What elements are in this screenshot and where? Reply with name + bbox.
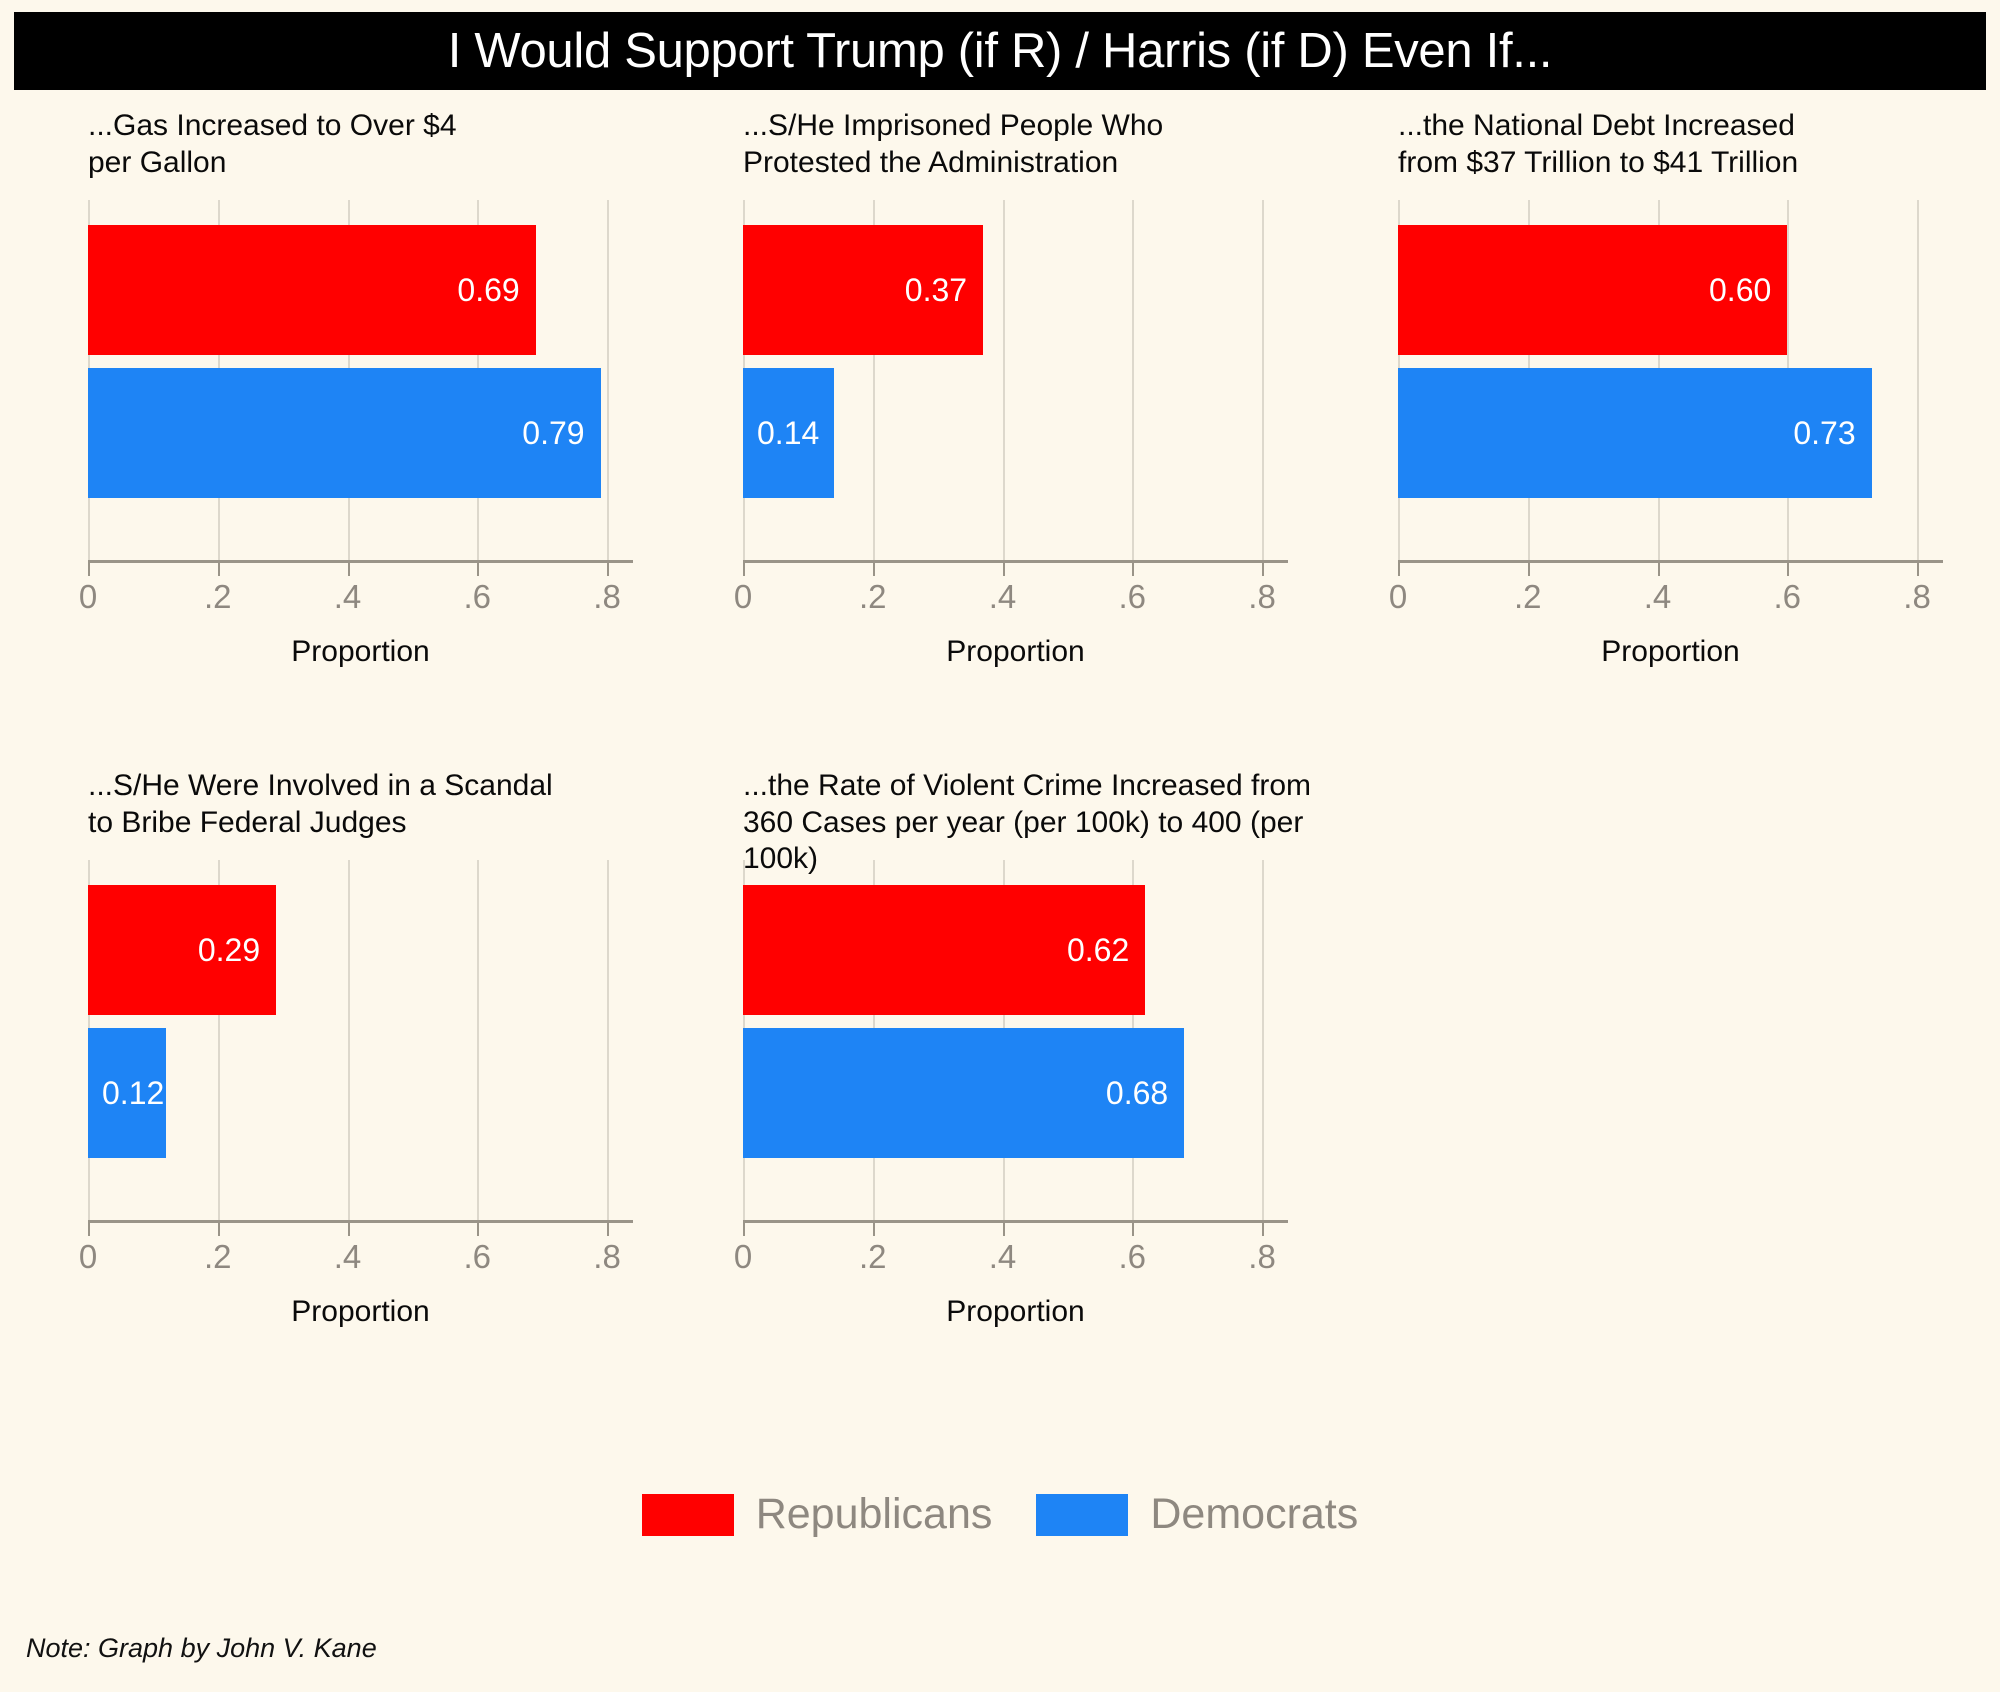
bar-republicans: 0.37 — [743, 225, 983, 355]
x-axis-line — [88, 560, 633, 563]
axis-tick — [88, 1220, 90, 1236]
axis-tick-label: 0 — [1389, 578, 1407, 616]
panel-row-top: ...Gas Increased to Over $4 per Gallon0.… — [0, 100, 2000, 760]
chart-legend: RepublicansDemocrats — [0, 1490, 2000, 1539]
axis-tick — [1003, 560, 1005, 576]
axis-tick-label: .4 — [989, 1238, 1017, 1276]
axis-tick-label: .4 — [1644, 578, 1672, 616]
x-axis-line — [743, 1220, 1288, 1223]
axis-tick-label: .8 — [1248, 578, 1276, 616]
legend-swatch-icon — [1036, 1494, 1128, 1536]
panel-title: ...S/He Imprisoned People Who Protested … — [743, 108, 1313, 181]
axis-tick-label: .2 — [204, 578, 232, 616]
axis-tick — [607, 1220, 609, 1236]
plot-area: 0.370.14 — [743, 200, 1288, 560]
bar-value-label: 0.62 — [1067, 932, 1129, 969]
axis-tick — [743, 1220, 745, 1236]
bar-democrats: 0.73 — [1398, 368, 1872, 498]
axis-tick-label: .4 — [334, 578, 362, 616]
bar-democrats: 0.12 — [88, 1028, 166, 1158]
chart-panel: ...the Rate of Violent Crime Increased f… — [665, 760, 1320, 1420]
bar-value-label: 0.12 — [102, 1075, 164, 1112]
gridline — [1132, 200, 1134, 560]
axis-tick — [1132, 1220, 1134, 1236]
bar-value-label: 0.29 — [198, 932, 260, 969]
bar-republicans: 0.69 — [88, 225, 536, 355]
chart-panel: ...S/He Were Involved in a Scandal to Br… — [10, 760, 665, 1420]
axis-tick-label: 0 — [734, 1238, 752, 1276]
axis-tick-label: .8 — [593, 578, 621, 616]
x-axis-line — [88, 1220, 633, 1223]
panel-grid: ...Gas Increased to Over $4 per Gallon0.… — [0, 100, 2000, 1420]
x-axis-line — [743, 560, 1288, 563]
legend-swatch-icon — [642, 1494, 734, 1536]
legend-label: Democrats — [1150, 1490, 1358, 1539]
x-axis-title: Proportion — [743, 1295, 1288, 1329]
figure-note: Note: Graph by John V. Kane — [26, 1633, 377, 1664]
axis-tick-label: 0 — [79, 1238, 97, 1276]
axis-tick — [477, 1220, 479, 1236]
chart-panel: ...the National Debt Increased from $37 … — [1320, 100, 1975, 760]
axis-tick-label: .2 — [859, 1238, 887, 1276]
axis-tick-label: .6 — [464, 1238, 492, 1276]
bar-democrats: 0.68 — [743, 1028, 1184, 1158]
chart-title: I Would Support Trump (if R) / Harris (i… — [448, 23, 1552, 79]
bar-value-label: 0.60 — [1709, 272, 1771, 309]
axis-tick — [873, 1220, 875, 1236]
gridline — [1003, 200, 1005, 560]
legend-item: Democrats — [1036, 1490, 1358, 1539]
axis-tick — [607, 560, 609, 576]
axis-tick-label: .4 — [334, 1238, 362, 1276]
axis-tick — [348, 560, 350, 576]
plot-area: 0.600.73 — [1398, 200, 1943, 560]
bar-value-label: 0.37 — [905, 272, 967, 309]
x-axis-title: Proportion — [743, 635, 1288, 669]
axis-tick-label: 0 — [79, 578, 97, 616]
panel-title: ...Gas Increased to Over $4 per Gallon — [88, 108, 658, 181]
axis-tick — [873, 560, 875, 576]
axis-tick — [1398, 560, 1400, 576]
axis-tick — [1132, 560, 1134, 576]
panel-title: ...the National Debt Increased from $37 … — [1398, 108, 1968, 181]
gridline — [607, 200, 609, 560]
axis-tick-label: .8 — [1248, 1238, 1276, 1276]
legend-item: Republicans — [642, 1490, 993, 1539]
axis-tick-label: .2 — [204, 1238, 232, 1276]
axis-tick — [1917, 560, 1919, 576]
plot-area: 0.690.79 — [88, 200, 633, 560]
bar-republicans: 0.29 — [88, 885, 276, 1015]
gridline — [348, 860, 350, 1220]
axis-tick-label: .6 — [1119, 578, 1147, 616]
axis-tick — [1262, 1220, 1264, 1236]
axis-tick-label: .6 — [1774, 578, 1802, 616]
axis-tick-label: .8 — [593, 1238, 621, 1276]
bar-democrats: 0.79 — [88, 368, 601, 498]
axis-tick — [88, 560, 90, 576]
axis-tick-label: .2 — [859, 578, 887, 616]
legend-label: Republicans — [756, 1490, 993, 1539]
bar-value-label: 0.79 — [522, 415, 584, 452]
bar-republicans: 0.60 — [1398, 225, 1787, 355]
gridline — [1262, 860, 1264, 1220]
x-axis-line — [1398, 560, 1943, 563]
panel-row-bottom: ...S/He Were Involved in a Scandal to Br… — [0, 760, 2000, 1420]
bar-value-label: 0.14 — [757, 415, 819, 452]
axis-tick — [743, 560, 745, 576]
gridline — [1917, 200, 1919, 560]
axis-tick-label: 0 — [734, 578, 752, 616]
bar-value-label: 0.68 — [1106, 1075, 1168, 1112]
chart-root: I Would Support Trump (if R) / Harris (i… — [0, 0, 2000, 1692]
x-axis-title: Proportion — [88, 1295, 633, 1329]
axis-tick — [477, 560, 479, 576]
axis-tick — [1787, 560, 1789, 576]
axis-tick — [1262, 560, 1264, 576]
axis-tick-label: .6 — [464, 578, 492, 616]
axis-tick — [1658, 560, 1660, 576]
axis-tick-label: .6 — [1119, 1238, 1147, 1276]
x-axis-title: Proportion — [88, 635, 633, 669]
bar-value-label: 0.69 — [457, 272, 519, 309]
bar-democrats: 0.14 — [743, 368, 834, 498]
plot-area: 0.620.68 — [743, 860, 1288, 1220]
axis-tick-label: .2 — [1514, 578, 1542, 616]
axis-tick-label: .4 — [989, 578, 1017, 616]
axis-tick — [1528, 560, 1530, 576]
bar-value-label: 0.73 — [1793, 415, 1855, 452]
chart-title-banner: I Would Support Trump (if R) / Harris (i… — [14, 12, 1986, 90]
axis-tick — [218, 1220, 220, 1236]
axis-tick-label: .8 — [1903, 578, 1931, 616]
bar-republicans: 0.62 — [743, 885, 1145, 1015]
plot-area: 0.290.12 — [88, 860, 633, 1220]
gridline — [607, 860, 609, 1220]
chart-panel: ...S/He Imprisoned People Who Protested … — [665, 100, 1320, 760]
axis-tick — [348, 1220, 350, 1236]
x-axis-title: Proportion — [1398, 635, 1943, 669]
chart-panel: ...Gas Increased to Over $4 per Gallon0.… — [10, 100, 665, 760]
panel-title: ...S/He Were Involved in a Scandal to Br… — [88, 768, 658, 841]
axis-tick — [1003, 1220, 1005, 1236]
gridline — [1262, 200, 1264, 560]
gridline — [477, 860, 479, 1220]
axis-tick — [218, 560, 220, 576]
